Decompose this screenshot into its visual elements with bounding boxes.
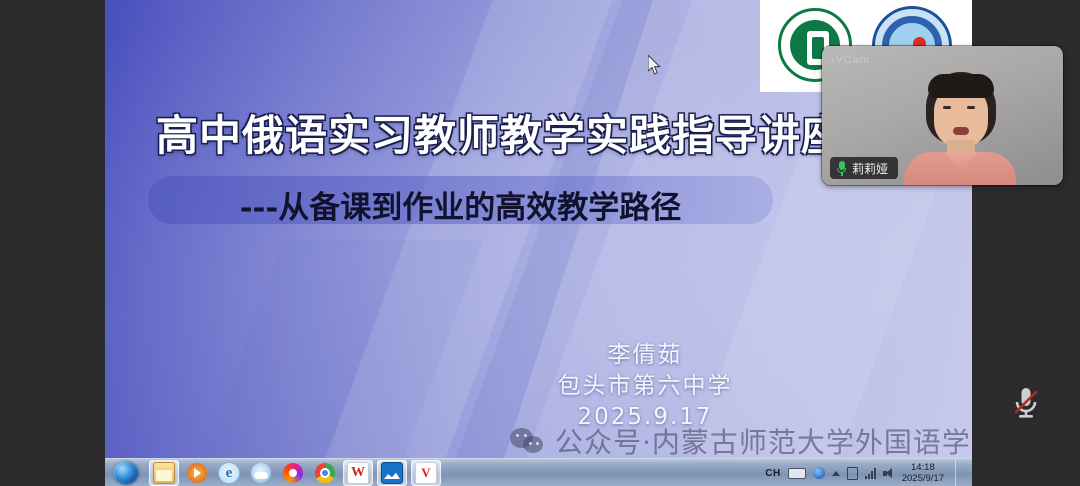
ie-icon: e — [218, 462, 240, 484]
show-desktop-button[interactable] — [955, 459, 964, 486]
battery-icon[interactable] — [847, 467, 858, 480]
chevron-shape-5 — [167, 240, 483, 458]
chrome-icon — [315, 463, 335, 483]
show-hidden-icons-icon[interactable] — [832, 471, 840, 476]
v-icon: V — [415, 462, 437, 484]
participant-video-image — [900, 72, 1020, 185]
taskbar-item-wps-office[interactable]: W — [343, 460, 373, 486]
taskbar-item-cloud-app[interactable] — [247, 461, 275, 485]
slide-subtitle: ---从备课到作业的高效教学路径 — [148, 182, 773, 227]
wechat-watermark: 公众号·内蒙古师范大学外国语学院 — [510, 421, 972, 458]
mouse-cursor — [648, 55, 662, 75]
participant-name-badge: 莉莉娅 — [830, 157, 898, 179]
taskbar-item-v-app[interactable]: V — [411, 460, 441, 486]
presenter-name: 李倩茹 — [485, 340, 805, 371]
keyboard-icon[interactable] — [788, 468, 806, 479]
network-icon[interactable] — [865, 468, 876, 479]
cloud-icon — [251, 463, 271, 483]
wechat-icon — [510, 427, 546, 455]
taskbar-quick-launch: e W V — [149, 460, 441, 486]
start-button[interactable] — [113, 461, 139, 485]
microphone-icon — [837, 161, 846, 176]
volume-icon[interactable] — [883, 468, 895, 479]
taskbar-item-file-explorer[interactable] — [149, 460, 179, 486]
ime-indicator[interactable]: CH — [765, 468, 780, 479]
taskbar-item-internet-explorer[interactable]: e — [215, 461, 243, 485]
clock[interactable]: 14:18 2025/9/17 — [902, 462, 944, 484]
folder-icon — [153, 462, 175, 484]
mountain-icon — [381, 462, 403, 484]
camera-watermark: iVCam — [832, 54, 870, 66]
taskbar-item-chrome[interactable] — [311, 461, 339, 485]
mute-toggle-button[interactable] — [972, 376, 1080, 432]
clock-date: 2025/9/17 — [902, 473, 944, 484]
presenter-organization: 包头市第六中学 — [485, 371, 805, 402]
clock-time: 14:18 — [902, 462, 944, 473]
taskbar-item-media-player[interactable] — [183, 461, 211, 485]
presenter-block: 李倩茹 包头市第六中学 2025.9.17 — [485, 340, 805, 433]
taskbar-item-firefox[interactable] — [279, 461, 307, 485]
watermark-text: 公众号·内蒙古师范大学外国语学院 — [555, 421, 972, 458]
taskbar-item-blue-app[interactable] — [377, 460, 407, 486]
microphone-muted-icon — [1009, 384, 1043, 424]
system-tray[interactable]: CH 14:18 2025/9/17 — [765, 459, 972, 486]
slide-title: 高中俄语实习教师教学实践指导讲座 — [105, 102, 895, 163]
globe-icon[interactable] — [813, 467, 825, 479]
wps-icon: W — [347, 462, 369, 484]
firefox-icon — [283, 463, 303, 483]
participant-video-tile[interactable]: iVCam 莉莉娅 — [822, 46, 1063, 185]
windows-taskbar[interactable]: e W V — [105, 458, 972, 486]
participant-name: 莉莉娅 — [852, 160, 888, 177]
media-player-icon — [187, 463, 207, 483]
screen-share-stage: 高中俄语实习教师教学实践指导讲座 ---从备课到作业的高效教学路径 李倩茹 包头… — [0, 0, 1080, 486]
